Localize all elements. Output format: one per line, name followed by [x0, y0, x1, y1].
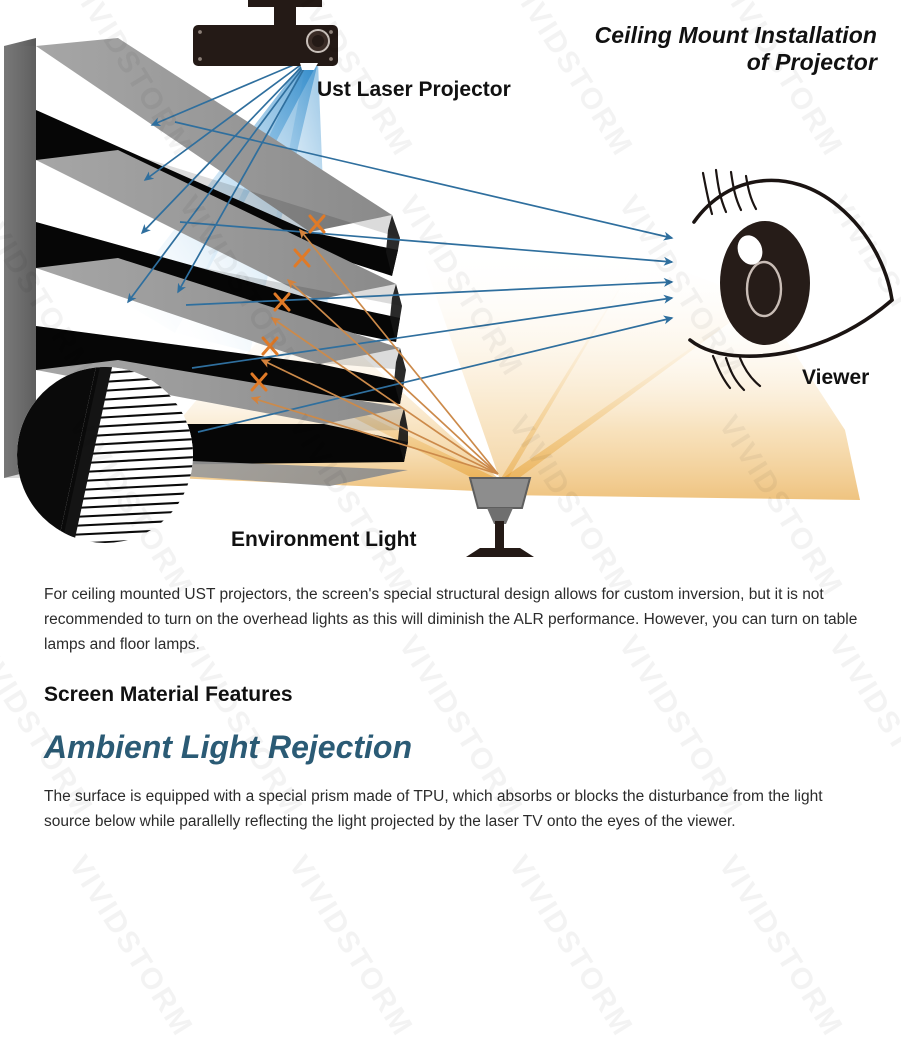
viewer-eye-iris: [720, 221, 810, 345]
screen-material-features-heading: Screen Material Features: [0, 683, 901, 707]
watermark-text: VIVIDSTORM: [711, 850, 849, 1043]
alr-paragraph: The surface is equipped with a special p…: [0, 784, 901, 834]
label-environment-light: Environment Light: [231, 528, 417, 553]
label-ust-laser-projector: Ust Laser Projector: [317, 78, 511, 103]
alr-diagram: Ceiling Mount Installation of Projector …: [0, 0, 901, 570]
diagram-title: Ceiling Mount Installation of Projector: [595, 22, 877, 76]
watermark-text: VIVIDSTORM: [501, 850, 639, 1043]
ust-laser-projector-device: [193, 0, 338, 70]
lamp-shade: [470, 478, 530, 508]
ambient-light-rejection-heading: Ambient Light Rejection: [0, 729, 901, 766]
page-root: Ceiling Mount Installation of Projector …: [0, 0, 901, 900]
lamp-pole: [495, 521, 504, 550]
environment-light-lamp: [466, 478, 534, 557]
lamp-base: [466, 548, 534, 557]
intro-paragraph: For ceiling mounted UST projectors, the …: [0, 570, 901, 657]
watermark-text: VIVIDSTORM: [281, 850, 419, 1043]
watermark-text: VIVIDSTORM: [61, 850, 199, 1043]
article-text: For ceiling mounted UST projectors, the …: [0, 570, 901, 835]
ceiling-plate: [248, 0, 322, 7]
label-viewer: Viewer: [802, 366, 869, 391]
